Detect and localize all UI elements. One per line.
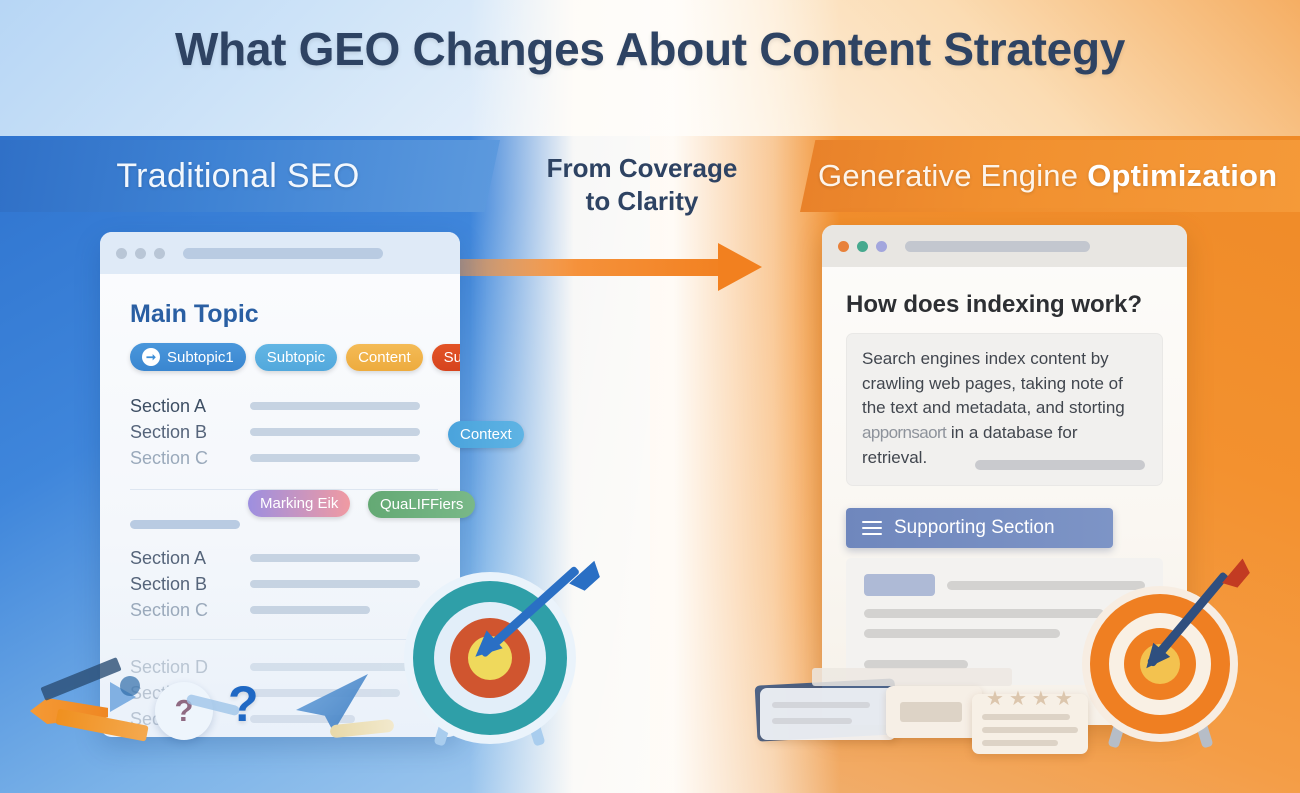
answer-placeholder-bar: [975, 460, 1145, 470]
section-bar: [250, 663, 415, 671]
tag-content-label: Content: [358, 349, 411, 366]
section-label: Section A: [130, 396, 250, 417]
arrow-head: [718, 243, 762, 291]
center-caption-line-2: to Clarity: [497, 185, 787, 218]
tag-subtopic-label: Subtopic: [267, 349, 325, 366]
tag-subutioct[interactable]: SubUTioct: [432, 344, 460, 371]
decor-dot: [120, 676, 140, 696]
star-icon: ★: [986, 686, 1004, 711]
question-bubble-icon: ?: [155, 682, 213, 740]
answer-text-part1: Search engines index content by crawling…: [862, 349, 1125, 417]
section-bar: [250, 428, 420, 436]
tag-subtopic1[interactable]: ➞ Subtopic1: [130, 343, 246, 371]
banner-left-label: Traditional SEO: [0, 140, 488, 212]
target-arrow-icon: [482, 554, 612, 674]
tag-subtopic[interactable]: Subtopic: [255, 344, 337, 371]
placeholder-bar: [130, 520, 240, 529]
card-divider: [130, 639, 438, 640]
main-topic-heading: Main Topic: [130, 300, 438, 329]
banner-right-label: Generative Engine Optimization: [818, 140, 1300, 212]
tag-marking-eik[interactable]: Marking Eik: [248, 490, 350, 517]
window-dot-1: [116, 248, 127, 259]
section-bar: [250, 454, 420, 462]
supporting-section-label: Supporting Section: [894, 517, 1055, 539]
section-row: Section B: [130, 419, 438, 445]
tag-context-label: Context: [460, 426, 512, 443]
star-icon: ★: [1032, 686, 1050, 711]
star-rating: ★ ★ ★ ★: [986, 686, 1073, 711]
subtopic-tag-row: ➞ Subtopic1 Subtopic Content SubUTioct: [130, 343, 438, 371]
circle-arrow-icon: ➞: [142, 348, 160, 366]
banner-traditional-seo: Traditional SEO: [0, 140, 500, 212]
supporting-section-header[interactable]: Supporting Section: [846, 508, 1113, 548]
window-dot-2: [857, 241, 868, 252]
section-label: Section C: [130, 600, 250, 621]
window-dot-3: [876, 241, 887, 252]
tag-context[interactable]: Context: [448, 421, 524, 448]
star-icon: ★: [1055, 686, 1073, 711]
section-label: Section A: [130, 548, 250, 569]
decor-card-strip: [812, 668, 1012, 686]
section-row: Section C: [130, 597, 438, 623]
window-address-bar: [183, 248, 383, 259]
section-label: Section C: [130, 448, 250, 469]
section-bar: [250, 606, 370, 614]
banner-right-bold: Optimization: [1087, 158, 1277, 194]
tag-qualiffiers[interactable]: QuaLIFFiers: [368, 491, 475, 518]
target-arrow-icon: [1150, 562, 1270, 682]
window-dot-1: [838, 241, 849, 252]
section-bar: [250, 554, 420, 562]
section-row: Section C: [130, 445, 438, 471]
page-title: What GEO Changes About Content Strategy: [0, 22, 1300, 76]
section-bar: [250, 402, 420, 410]
section-bar: [250, 580, 420, 588]
star-icon: ★: [1009, 686, 1027, 711]
tag-subtopic1-label: Subtopic1: [167, 349, 234, 366]
section-label: Section B: [130, 422, 250, 443]
section-row: Section B: [130, 571, 438, 597]
infographic-canvas: What GEO Changes About Content Strategy …: [0, 0, 1300, 793]
tag-content[interactable]: Content: [346, 344, 423, 371]
section-group-2: Section A Section B Section C: [130, 545, 438, 623]
answer-text-garbled: appornsaort: [862, 423, 946, 442]
tag-subutioct-label: SubUTioct: [444, 349, 460, 366]
content-line: [864, 629, 1060, 638]
section-group-1: Section A Section B Section C: [130, 393, 438, 471]
decor-card-2: [886, 686, 982, 738]
section-row: Section A: [130, 545, 438, 571]
target-bullseye-icon-left: [404, 572, 576, 744]
section-label: Section B: [130, 574, 250, 595]
banner-generative-engine-optimization: Generative Engine Optimization: [800, 140, 1300, 212]
decor-card-1: [760, 688, 896, 740]
answer-block: Search engines index content by crawling…: [846, 333, 1163, 486]
right-card-titlebar: [822, 225, 1187, 267]
window-dot-2: [135, 248, 146, 259]
banner-right-regular: Generative Engine: [818, 158, 1078, 194]
window-dot-3: [154, 248, 165, 259]
tag-qualiffiers-label: QuaLIFFiers: [380, 496, 463, 513]
content-chip: [864, 574, 935, 596]
center-caption: From Coverage to Clarity: [497, 152, 787, 219]
left-card-titlebar: [100, 232, 460, 274]
window-address-bar: [905, 241, 1090, 252]
section-row: Section A: [130, 393, 438, 419]
target-bullseye-icon-right: [1082, 586, 1238, 742]
question-heading: How does indexing work?: [846, 291, 1163, 319]
section-row: Section D: [130, 654, 438, 680]
content-line: [864, 609, 1104, 618]
center-caption-line-1: From Coverage: [497, 152, 787, 185]
tag-marking-eik-label: Marking Eik: [260, 495, 338, 512]
hamburger-menu-icon: [862, 521, 882, 535]
